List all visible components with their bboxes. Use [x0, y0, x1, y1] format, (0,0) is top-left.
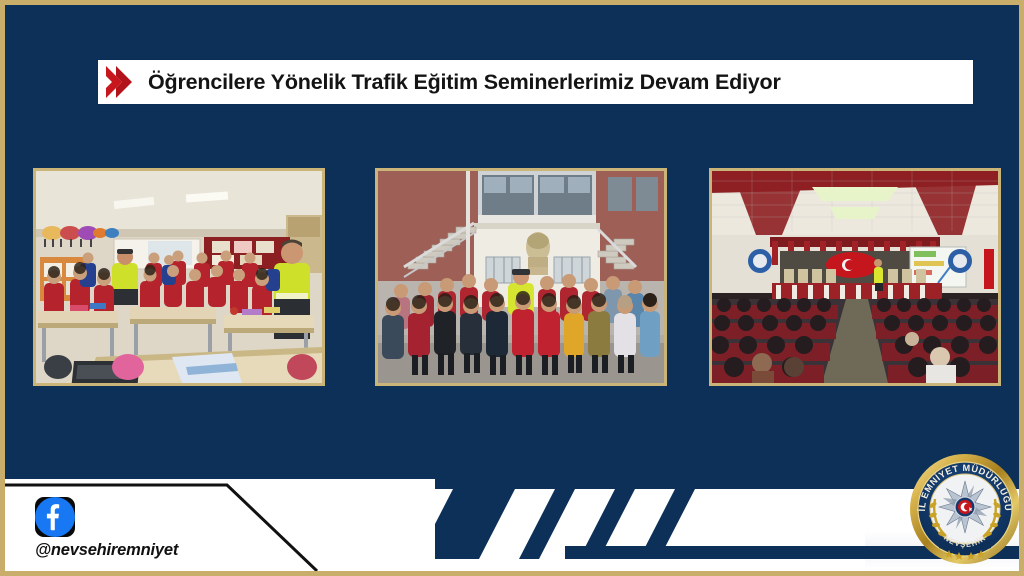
social-handle: @nevsehiremniyet [35, 541, 178, 560]
photo-gallery [5, 168, 1024, 388]
page-title: Öğrencilere Yönelik Trafik Eğitim Semine… [148, 70, 781, 95]
social-card: @nevsehiremniyet [5, 479, 435, 571]
chevron-right-icon [98, 60, 142, 104]
photo-group-outdoor[interactable] [375, 168, 667, 386]
footer-band: @nevsehiremniyet [5, 463, 1024, 571]
title-bar: Öğrencilere Yönelik Trafik Eğitim Semine… [98, 60, 973, 104]
photo-conference-hall[interactable] [709, 168, 1001, 386]
poster-root: Öğrencilere Yönelik Trafik Eğitim Semine… [0, 0, 1024, 576]
photo-classroom[interactable] [33, 168, 325, 386]
police-emblem-icon: NEVŞEHİR İL EMNİYET MÜDÜRLÜĞÜ [909, 453, 1021, 565]
